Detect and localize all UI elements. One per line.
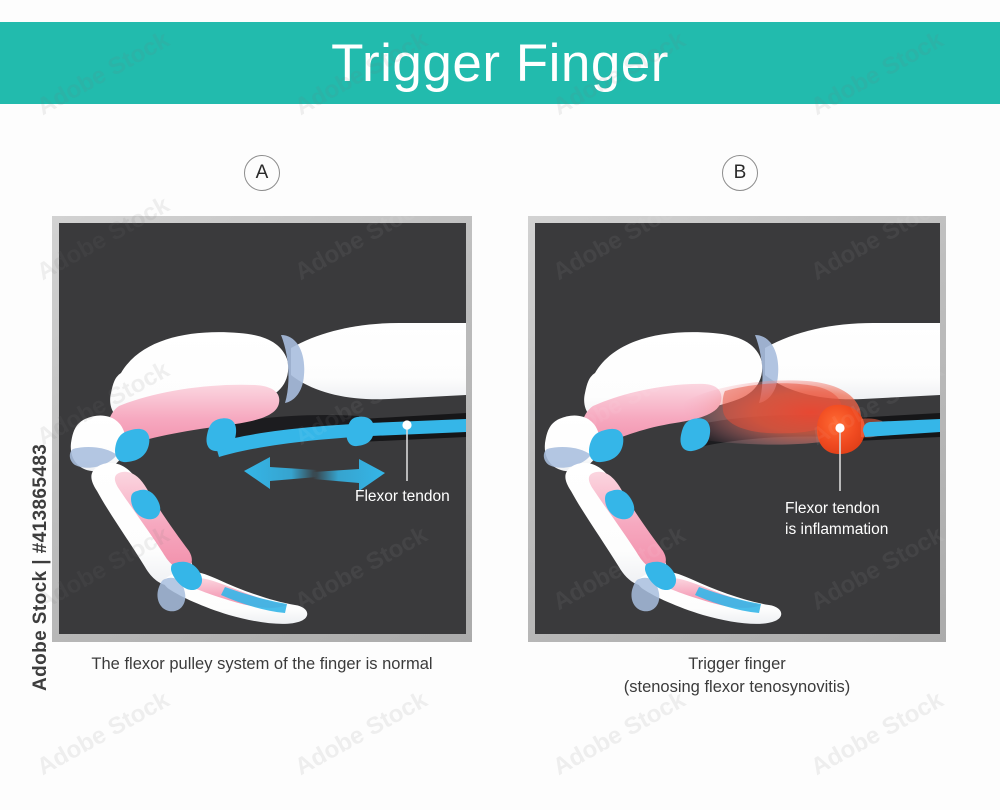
panel-badge-a-label: A	[256, 162, 269, 184]
caption-b-line-1: Trigger finger	[528, 653, 946, 676]
caption-b-line-2: (stenosing flexor tenosynovitis)	[528, 676, 946, 699]
panel-badge-b: B	[722, 155, 758, 191]
panel-badge-b-label: B	[734, 162, 747, 184]
watermark-tile: Adobe Stock	[32, 686, 174, 782]
figure-canvas-b: Flexor tendon is inflammation	[535, 223, 940, 634]
annotation-marker-dot-b	[835, 423, 844, 432]
normal-finger-illustration: Flexor tendon	[59, 223, 466, 634]
figure-frame-a: Flexor tendon	[52, 216, 472, 642]
panel-badge-a: A	[244, 155, 280, 191]
figure-canvas-a: Flexor tendon	[59, 223, 466, 634]
glide-left-arrow	[244, 457, 317, 489]
annotation-label-b-line-2: is inflammation	[785, 521, 888, 538]
stock-id-watermark: Adobe Stock | #413865483	[30, 451, 52, 691]
caption-a-line-1: The flexor pulley system of the finger i…	[52, 653, 472, 676]
annotation-label-b-line-1: Flexor tendon	[785, 500, 880, 517]
trigger-finger-illustration: Flexor tendon is inflammation	[535, 223, 940, 634]
annotation-label-a: Flexor tendon	[355, 488, 450, 505]
watermark-tile: Adobe Stock	[290, 686, 432, 782]
title-banner: Trigger Finger	[0, 22, 1000, 104]
figure-frame-b: Flexor tendon is inflammation	[528, 216, 946, 642]
annotation-marker-dot-a	[402, 420, 411, 429]
glide-right-arrow	[313, 459, 385, 491]
pulley-band-a5	[346, 417, 374, 446]
bone-metacarpal	[291, 323, 466, 399]
watermark-tile: Adobe Stock	[806, 686, 948, 782]
caption-a: The flexor pulley system of the finger i…	[52, 653, 472, 676]
caption-b: Trigger finger (stenosing flexor tenosyn…	[528, 653, 946, 699]
watermark-tile: Adobe Stock	[548, 686, 690, 782]
page-title: Trigger Finger	[331, 37, 669, 90]
